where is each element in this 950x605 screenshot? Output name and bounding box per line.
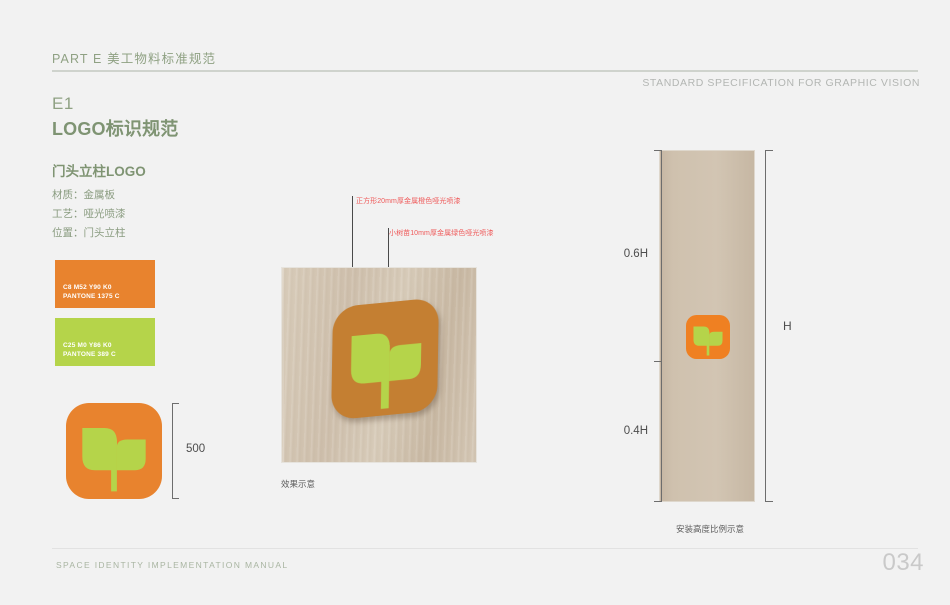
annotation-green-sprout: 小树苗10mm厚金属绿色哑光喷漆 <box>389 228 494 238</box>
color-swatch-green: C25 M0 Y86 K0 PANTONE 389 C <box>55 318 155 366</box>
standard-spec-label: STANDARD SPECIFICATION FOR GRAPHIC VISIO… <box>642 77 920 89</box>
swatch-cmyk-orange: C8 M52 Y90 K0 <box>63 283 155 292</box>
logo-dimension-500: 500 <box>172 403 212 499</box>
footer-divider <box>52 548 918 549</box>
dimension-line <box>172 403 173 499</box>
spec-item-material: 材质：金属板 <box>52 186 126 205</box>
logo-mark-on-pillar <box>686 315 730 359</box>
material-spec-list: 材质：金属板 工艺：哑光喷漆 位置：门头立柱 <box>52 186 126 243</box>
section-number: E1 <box>52 94 74 114</box>
dimension-tick-top <box>172 403 179 404</box>
spec-item-process: 工艺：哑光喷漆 <box>52 205 126 224</box>
dimension-label-500: 500 <box>186 443 205 455</box>
swatch-pantone-green: PANTONE 389 C <box>63 350 155 359</box>
spec-item-position: 位置：门头立柱 <box>52 224 126 243</box>
dimension-group-left: 0.6H 0.4H <box>632 150 662 502</box>
mockup-photo <box>281 267 477 463</box>
dimension-label-upper: 0.6H <box>624 248 648 260</box>
dimension-tick-bottom <box>765 501 773 502</box>
manual-title: SPACE IDENTITY IMPLEMENTATION MANUAL <box>56 560 289 570</box>
page-number: 034 <box>883 549 924 577</box>
dimension-group-right: H <box>765 150 801 502</box>
logo-mark-large <box>66 403 162 499</box>
part-title: PART E 美工物料标准规范 <box>52 48 216 67</box>
dimension-line <box>661 150 662 502</box>
swatch-pantone-orange: PANTONE 1375 C <box>63 292 155 301</box>
sprout-logo-icon <box>327 292 443 427</box>
section-title: LOGO标识规范 <box>52 115 178 141</box>
sprout-logo-icon <box>686 315 730 359</box>
dimension-tick-bottom <box>654 501 662 502</box>
swatch-cmyk-green: C25 M0 Y86 K0 <box>63 341 155 350</box>
dimension-label-total: H <box>783 319 792 333</box>
dimension-tick-bottom <box>172 498 179 499</box>
dimension-label-lower: 0.4H <box>624 425 648 437</box>
dimension-tick-top <box>765 150 773 151</box>
color-swatch-orange: C8 M52 Y90 K0 PANTONE 1375 C <box>55 260 155 308</box>
mockup-caption: 效果示意 <box>281 478 315 490</box>
pillar-caption: 安装高度比例示意 <box>676 523 744 535</box>
spec-page: PART E 美工物料标准规范 STANDARD SPECIFICATION F… <box>0 0 950 605</box>
subsection-title: 门头立柱LOGO <box>52 160 146 180</box>
dimension-tick-top <box>654 150 662 151</box>
sprout-logo-icon <box>66 403 162 499</box>
header-divider <box>52 70 918 72</box>
annotation-orange-plate: 正方形20mm厚金属橙色哑光喷漆 <box>356 196 461 206</box>
dimension-tick-middle <box>654 361 662 362</box>
logo-mark-mockup <box>327 292 443 427</box>
dimension-line <box>765 150 766 502</box>
